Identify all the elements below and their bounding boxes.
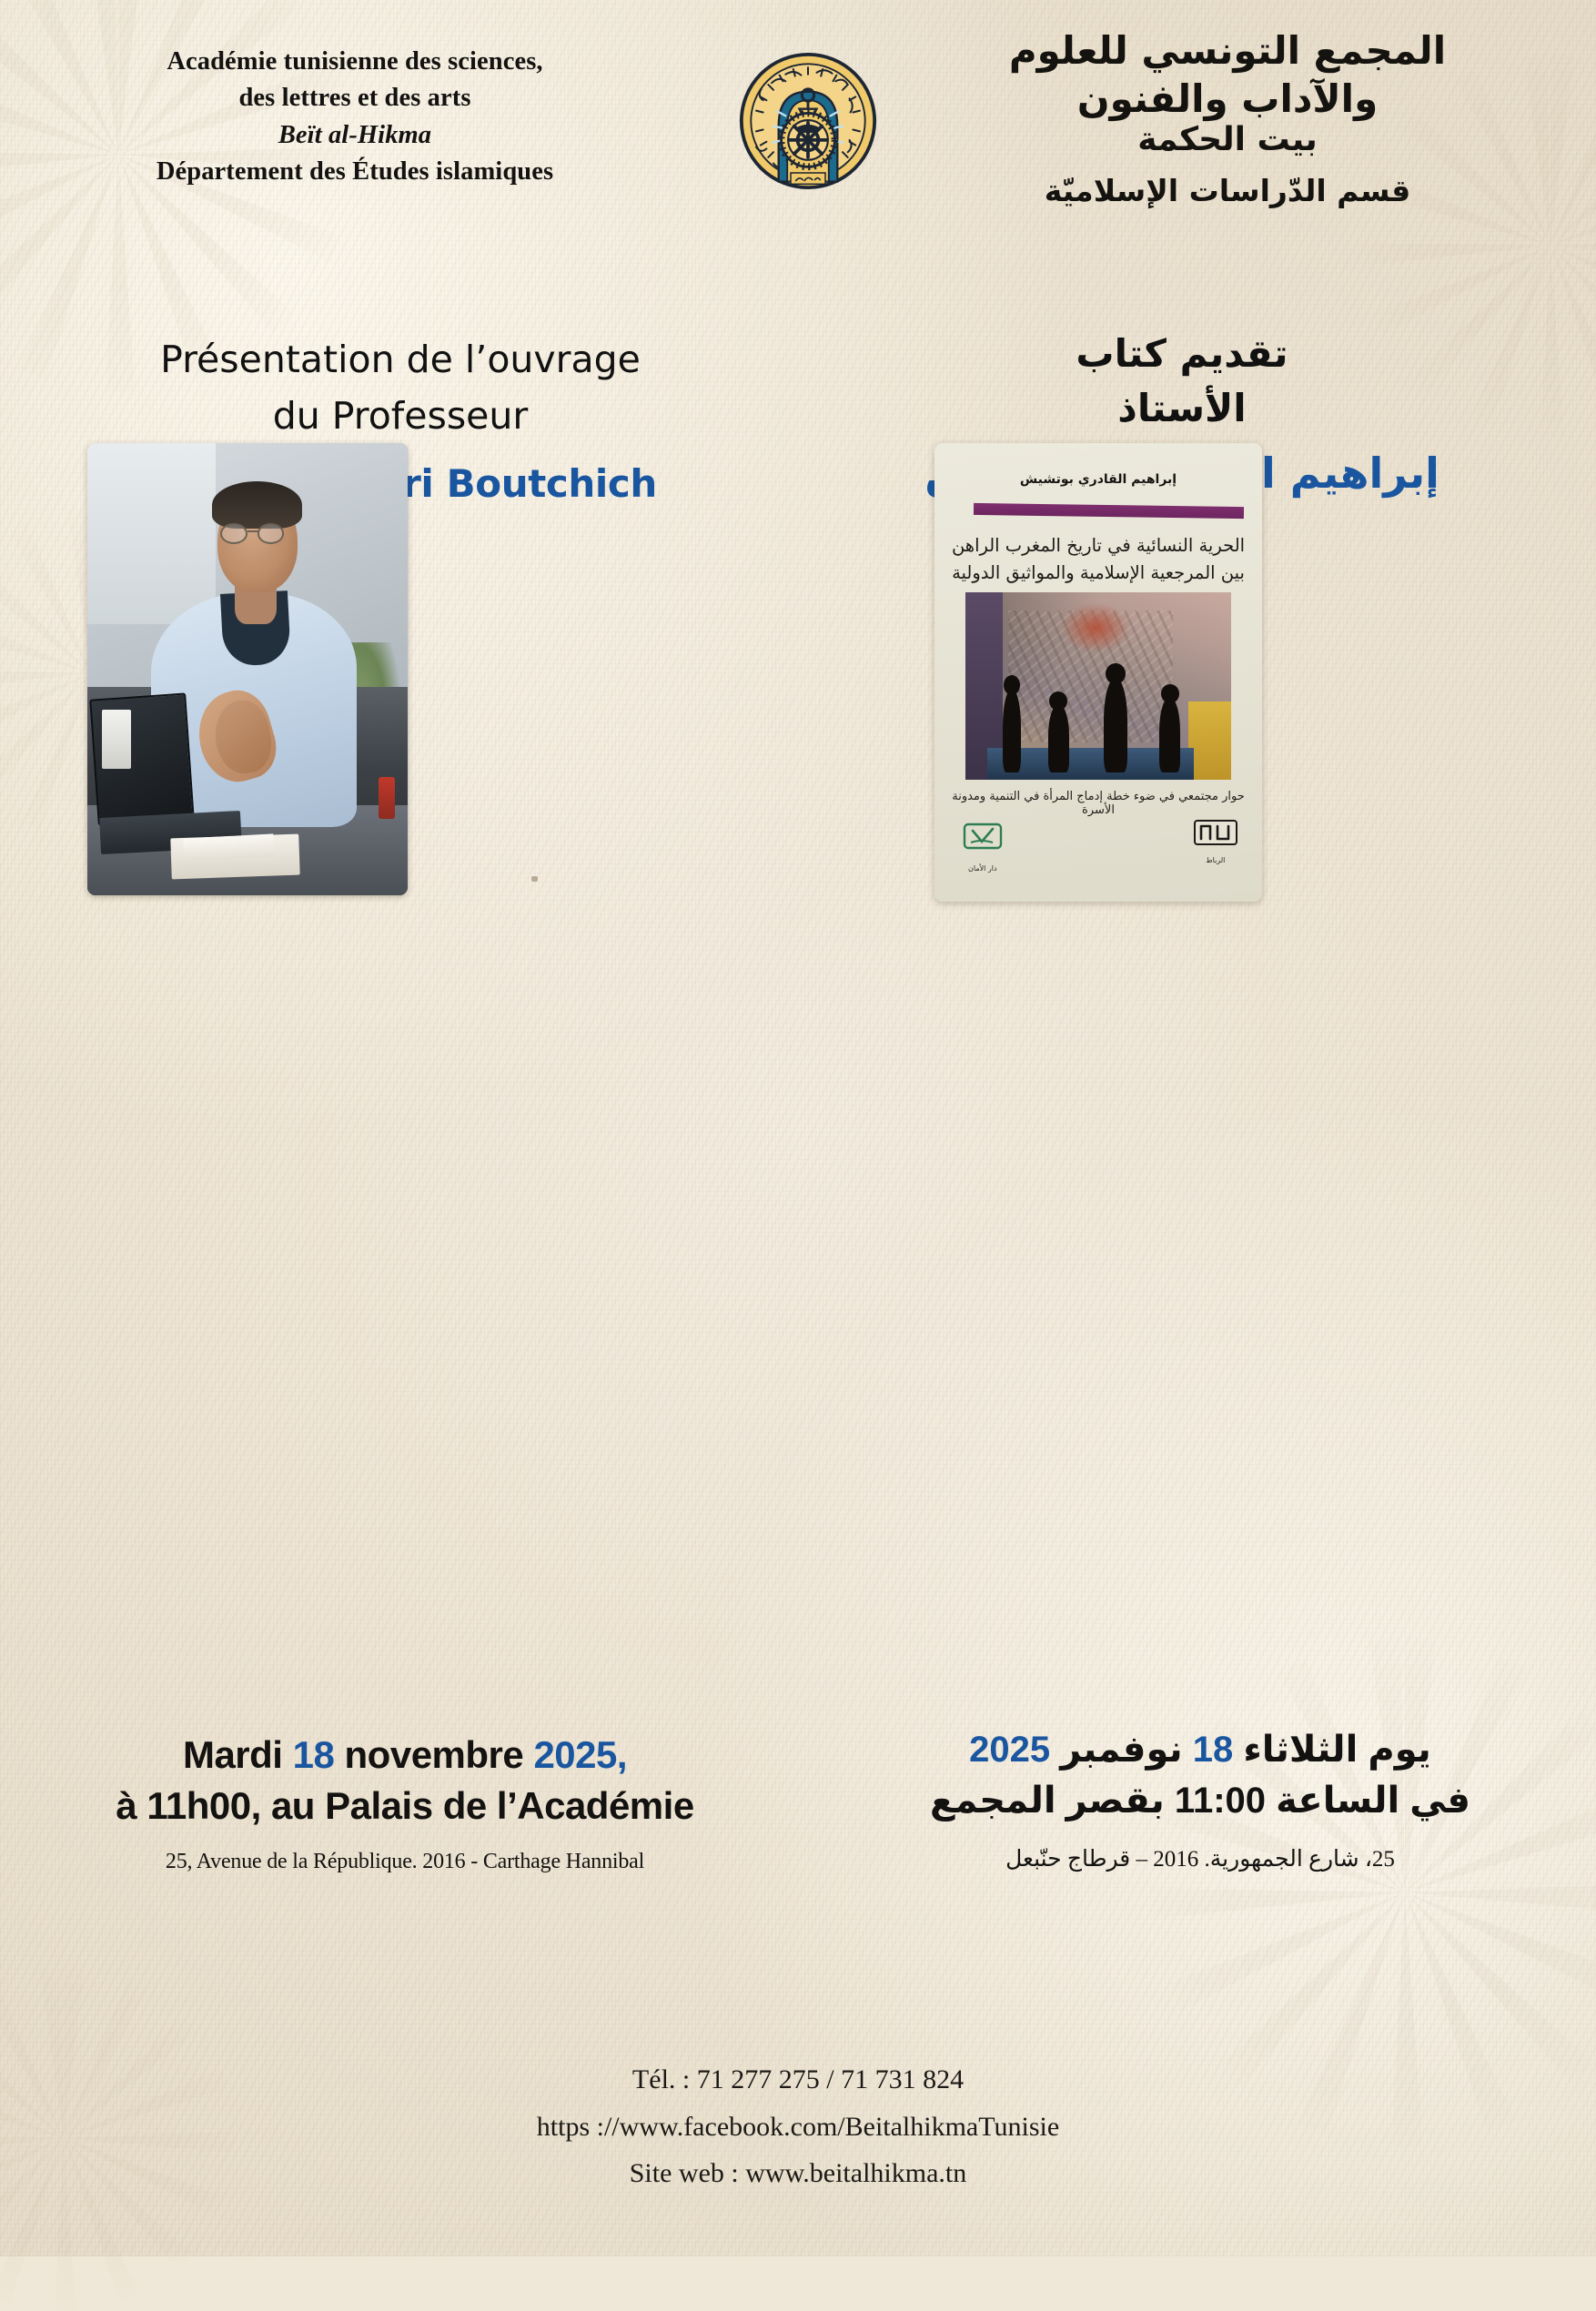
book-cover-title: الحرية النسائية في تاريخ المغرب الراهن ب… (951, 532, 1246, 587)
author-photo (87, 443, 408, 895)
contact-website[interactable]: Site web : www.beitalhikma.tn (0, 2150, 1596, 2197)
artwork-silhouette-2 (1048, 705, 1069, 772)
artwork-silhouette-3 (1104, 679, 1127, 772)
book-cover-artwork (965, 592, 1231, 781)
event-month-arabic: نوفمبر (1060, 1730, 1182, 1770)
publisher-left-caption: دار الأمان (961, 864, 1005, 873)
event-month-french: novembre (345, 1733, 524, 1776)
event-date-number-french: 18 (293, 1733, 335, 1776)
event-year-french: 2025, (533, 1733, 627, 1776)
book-cover-image: إبراهيم القادري بوتشيش الحرية النسائية ف… (934, 443, 1262, 902)
institution-name-arabic: المجمع التونسي للعلوم والآداب والفنون بي… (936, 27, 1519, 208)
contact-phone: Tél. : 71 277 275 / 71 731 824 (0, 2056, 1596, 2104)
event-time-arabic: 11:00 (1175, 1781, 1266, 1821)
artwork-silhouette-4 (1159, 698, 1180, 773)
photo-red-object (379, 777, 395, 819)
institution-arabic-line-1: المجمع التونسي للعلوم والآداب والفنون (1009, 28, 1446, 121)
paper-smudge (531, 876, 538, 882)
photo-person-glasses-bridge (247, 530, 258, 532)
contact-facebook[interactable]: https ://www.facebook.com/BeitalhikmaTun… (0, 2104, 1596, 2151)
author-photo-image (87, 443, 408, 895)
photo-person-hair (212, 481, 302, 529)
event-time-prefix-arabic: في الساعة (1276, 1781, 1470, 1821)
event-time-venue-french: à 11h00, au Palais de l’Académie (55, 1784, 755, 1828)
book-cover-accent-bar (974, 503, 1244, 519)
artwork-yellow-band (1188, 701, 1231, 781)
event-venue-arabic: بقصر المجمع (930, 1781, 1165, 1821)
event-time-venue-arabic: في الساعة 11:00 بقصر المجمع (873, 1780, 1528, 1822)
title-french-line-1: Présentation de l’ouvrage (55, 332, 746, 389)
institution-line-3: Beït al-Hikma (36, 117, 673, 154)
institution-line-2: des lettres et des arts (36, 80, 673, 116)
title-arabic-line-2: الأستاذ (854, 381, 1510, 436)
photo-wall-light (87, 443, 216, 624)
event-address-arabic: 25، شارع الجمهورية. 2016 – قرطاج حنّبعل (873, 1845, 1528, 1872)
event-day-arabic: يوم الثلاثاء (1243, 1730, 1430, 1770)
publisher-logo-right-icon: الرباط (1192, 819, 1239, 859)
institution-name-french: Académie tunisienne des sciences, des le… (36, 44, 673, 191)
event-day-french: Mardi (183, 1733, 283, 1776)
title-french-line-2: du Professeur (55, 389, 746, 445)
institution-calligraphy: المجمع التونسي للعلوم والآداب والفنون بي… (936, 27, 1519, 160)
institution-line-1: Académie tunisienne des sciences, (36, 44, 673, 80)
artwork-silhouette-1 (1003, 690, 1021, 772)
book-cover-author: إبراهيم القادري بوتشيش (934, 472, 1262, 487)
artwork-silhouette-3-head (1106, 663, 1126, 684)
poster: Académie tunisienne des sciences, des le… (0, 0, 1596, 2256)
publisher-logo-left-icon: دار الأمان (961, 822, 1005, 858)
department-french: Département des Études islamiques (36, 154, 673, 190)
book-cover: إبراهيم القادري بوتشيش الحرية النسائية ف… (934, 443, 1262, 902)
event-address-french: 25, Avenue de la République. 2016 - Cart… (55, 1850, 755, 1874)
title-arabic-line-1: تقديم كتاب (854, 327, 1510, 381)
institution-arabic-line-2: بيت الحكمة (936, 119, 1519, 160)
book-title-line-2: بين المرجعية الإسلامية والمواثيق الدولية (951, 560, 1246, 587)
event-date-french: Mardi 18 novembre 2025, (55, 1733, 755, 1777)
publisher-right-caption: الرباط (1192, 856, 1239, 864)
poster-header: Académie tunisienne des sciences, des le… (0, 27, 1596, 237)
department-arabic: قسم الدّراسات الإسلاميّة (936, 173, 1519, 208)
beit-al-hikma-logo-icon (739, 52, 877, 190)
event-date-arabic: يوم الثلاثاء 18 نوفمبر 2025 (873, 1729, 1528, 1771)
event-details-french: Mardi 18 novembre 2025, à 11h00, au Pala… (55, 1733, 755, 1874)
event-details-arabic: يوم الثلاثاء 18 نوفمبر 2025 في الساعة 11… (873, 1729, 1528, 1872)
event-date-number-arabic: 18 (1193, 1730, 1234, 1770)
book-title-line-1: الحرية النسائية في تاريخ المغرب الراهن (951, 532, 1246, 560)
photo-name-badge (102, 710, 131, 769)
artwork-red-glow (1061, 603, 1130, 652)
artwork-silhouette-2-head (1049, 691, 1067, 711)
artwork-silhouette-4-head (1161, 684, 1179, 703)
event-year-arabic: 2025 (969, 1730, 1050, 1770)
book-cover-subtitle: حوار مجتمعي في ضوء خطة إدماج المرأة في ا… (947, 790, 1248, 817)
contact-block: Tél. : 71 277 275 / 71 731 824 https ://… (0, 2056, 1596, 2197)
